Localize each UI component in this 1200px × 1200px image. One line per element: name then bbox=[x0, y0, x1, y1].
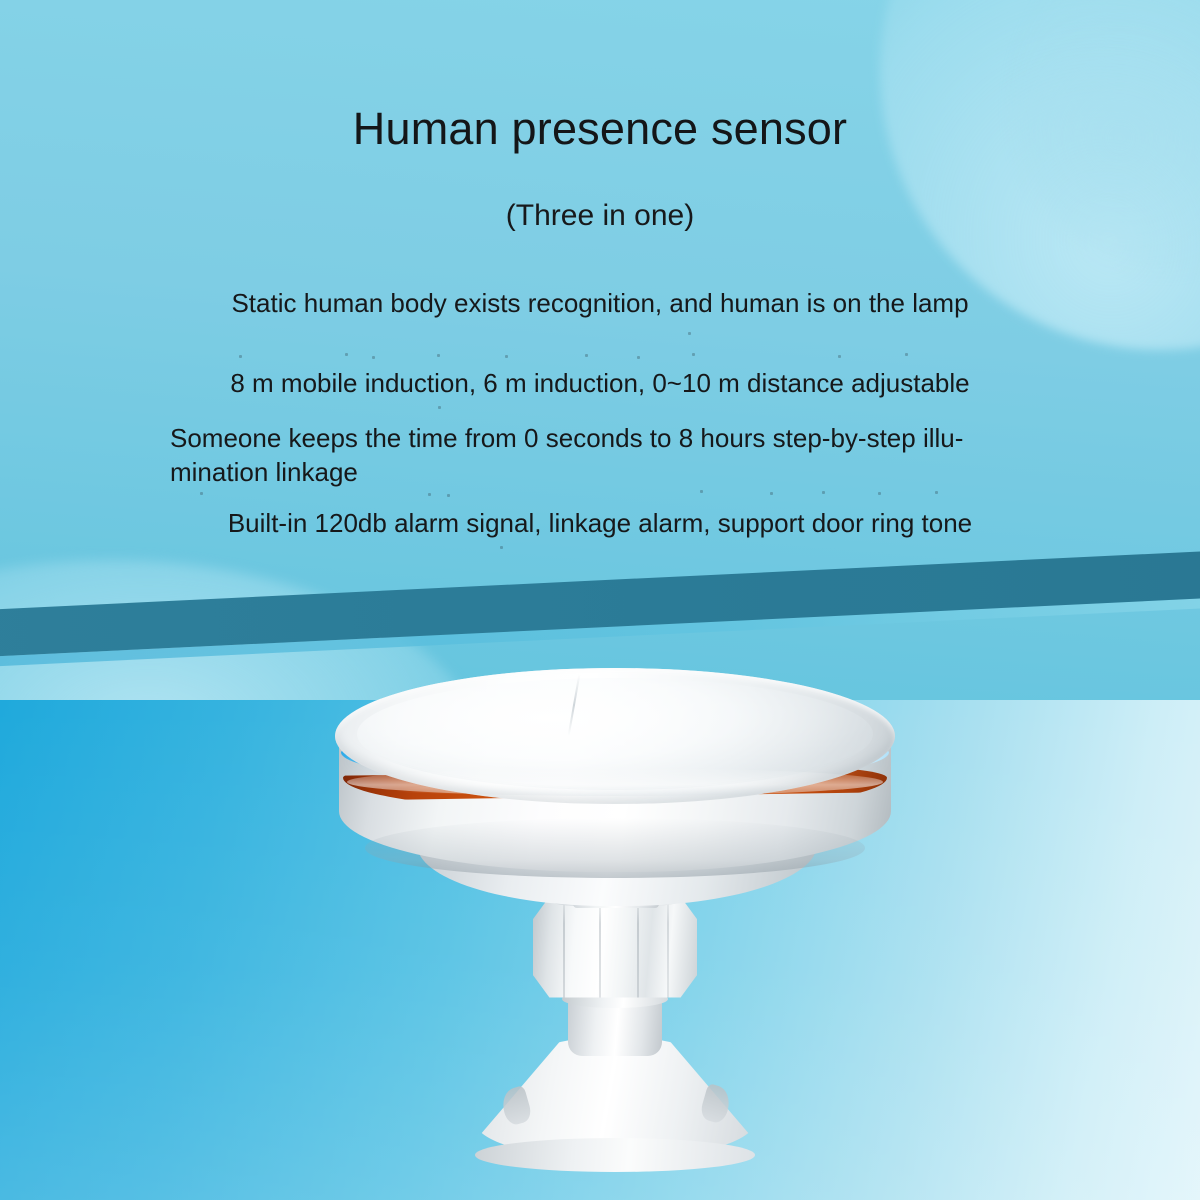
feature-line-3-part-2: mination linkage bbox=[170, 455, 1050, 489]
feature-line-3-part-1: Someone keeps the time from 0 seconds to… bbox=[170, 421, 1050, 455]
feature-line-1: Static human body exists recognition, an… bbox=[0, 286, 1200, 320]
housing-body-shading bbox=[365, 818, 865, 878]
page-subtitle: (Three in one) bbox=[0, 198, 1200, 234]
feature-line-4: Built-in 120db alarm signal, linkage ala… bbox=[0, 506, 1200, 540]
feature-line-3: Someone keeps the time from 0 seconds to… bbox=[170, 421, 1050, 489]
product-promo-image: Human presence sensor (Three in one) Sta… bbox=[0, 0, 1200, 1200]
product-image-sensor bbox=[335, 668, 895, 1158]
swivel-facet-edge bbox=[563, 890, 565, 1002]
mount-base-rim bbox=[475, 1138, 755, 1172]
housing-top-dish-rim bbox=[335, 668, 895, 804]
swivel-facet-edge bbox=[667, 890, 669, 1002]
feature-line-2: 8 m mobile induction, 6 m induction, 0~1… bbox=[0, 366, 1200, 400]
page-title: Human presence sensor bbox=[0, 103, 1200, 155]
